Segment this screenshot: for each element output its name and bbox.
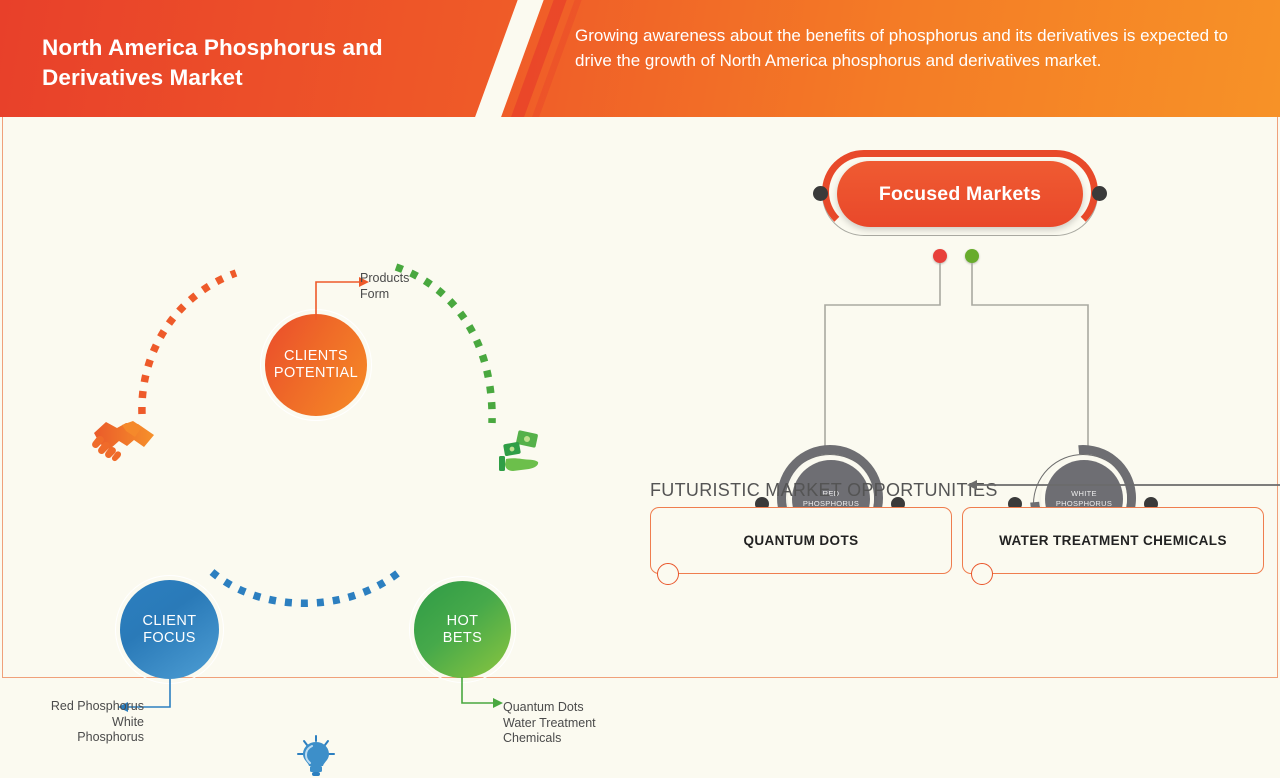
focused-markets-connectors <box>640 117 1280 680</box>
node-label-line2: FOCUS <box>143 630 197 647</box>
callout-line2: Form <box>360 287 480 303</box>
callout-line2: Water Treatment <box>503 716 643 732</box>
option-marker-circle-2 <box>971 563 993 585</box>
header-banner: North America Phosphorus and Derivatives… <box>0 0 1280 117</box>
futuristic-section-title: FUTURISTIC MARKET OPPORTUNITIES <box>650 480 998 501</box>
futuristic-arrow-icon <box>965 475 1280 495</box>
callout-hot-bets-items: Quantum Dots Water Treatment Chemicals <box>503 700 643 747</box>
node-label-line1: CLIENTS <box>274 348 358 365</box>
callout-line1: Quantum Dots <box>503 700 643 716</box>
cycle-node-label: CLIENTS POTENTIAL <box>274 348 358 382</box>
header-description: Growing awareness about the benefits of … <box>575 24 1235 73</box>
page-title: North America Phosphorus and Derivatives… <box>42 33 482 93</box>
callout-client-focus-items: Red Phosphorus White Phosphorus <box>12 699 144 746</box>
callout-line2: White <box>12 715 144 731</box>
lightbulb-icon <box>295 734 337 778</box>
money-in-hand-icon <box>497 428 541 476</box>
cycle-node-hot-bets[interactable]: HOT BETS <box>414 581 511 678</box>
option-box-quantum-dots[interactable]: QUANTUM DOTS <box>650 507 952 574</box>
callout-line3: Phosphorus <box>12 730 144 746</box>
callout-line3: Chemicals <box>503 731 643 747</box>
focused-markets-section: Focused Markets RED PHOSPHORUS <box>640 117 1280 680</box>
cycle-node-client-focus[interactable]: CLIENT FOCUS <box>120 580 219 679</box>
cycle-node-label: HOT BETS <box>443 613 482 647</box>
cycle-diagram: CLIENTS POTENTIAL Products Form CLIENT F… <box>0 117 640 680</box>
node-label-line2: POTENTIAL <box>274 365 358 382</box>
node-label-line1: CLIENT <box>143 613 197 630</box>
callout-products-form: Products Form <box>360 271 480 302</box>
callout-line1: Red Phosphorus <box>12 699 144 715</box>
option-box-water-treatment-chemicals[interactable]: WATER TREATMENT CHEMICALS <box>962 507 1264 574</box>
node-label-line2: BETS <box>443 630 482 647</box>
cycle-node-clients-potential[interactable]: CLIENTS POTENTIAL <box>265 314 367 416</box>
callout-line1: Products <box>360 271 480 287</box>
handshake-icon <box>90 413 158 465</box>
cycle-node-label: CLIENT FOCUS <box>143 613 197 647</box>
option-marker-circle-1 <box>657 563 679 585</box>
node-label-line1: HOT <box>443 613 482 630</box>
infographic-page: North America Phosphorus and Derivatives… <box>0 0 1280 680</box>
